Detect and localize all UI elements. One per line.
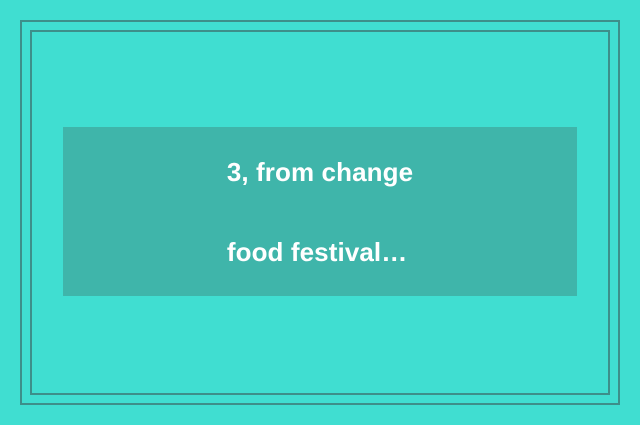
poster-canvas: 3, from change food festival… bbox=[0, 0, 640, 425]
caption-line-2: food festival… bbox=[227, 232, 413, 272]
caption-line-1: 3, from change bbox=[227, 152, 413, 192]
caption-band: 3, from change food festival… bbox=[63, 127, 577, 296]
caption-text-block: 3, from change food festival… bbox=[227, 112, 413, 312]
